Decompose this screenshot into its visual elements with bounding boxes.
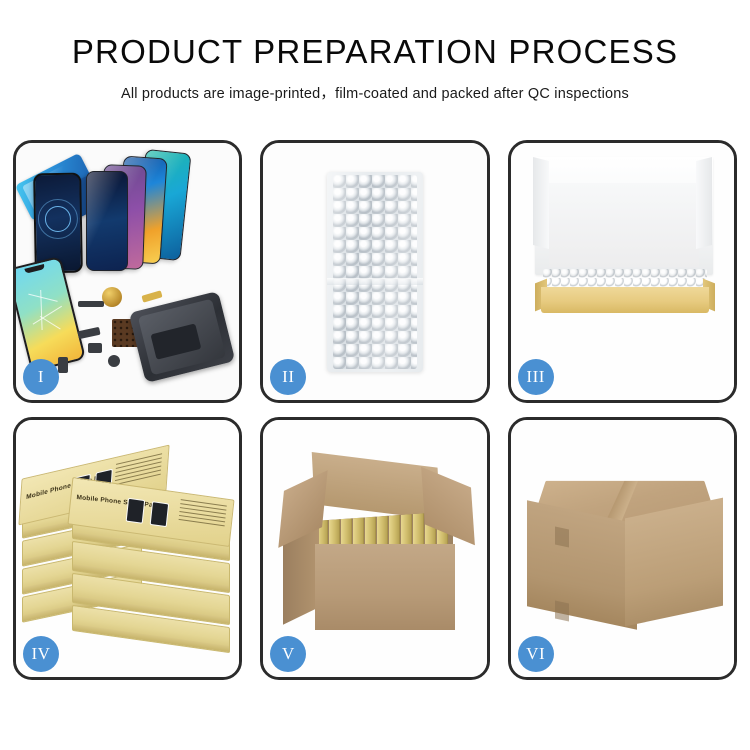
step-badge-1: I	[23, 359, 59, 395]
step-panel-products-and-spare-parts[interactable]: I	[13, 140, 242, 403]
kraft-tray-front	[541, 287, 709, 313]
steps-grid: I II	[13, 140, 737, 680]
step-badge-6: VI	[518, 636, 554, 672]
box-art-phone-icon	[126, 498, 146, 524]
carton-seam-top	[555, 527, 569, 548]
header: PRODUCT PREPARATION PROCESS All products…	[0, 0, 750, 103]
step-badge-3: III	[518, 359, 554, 395]
small-chip-part-icon	[88, 343, 102, 353]
box-spec-lines	[178, 499, 227, 535]
page-title: PRODUCT PREPARATION PROCESS	[0, 33, 750, 71]
box-art-phone-icon	[150, 501, 170, 527]
bubble-wrap-sheen	[327, 172, 423, 372]
page-subtitle: All products are image-printed，film-coat…	[0, 82, 750, 103]
open-carton-icon	[279, 456, 475, 632]
bubble-wrap-pouch-icon	[327, 172, 423, 372]
sealed-carton-icon	[525, 446, 725, 632]
carton-side-face	[625, 498, 723, 627]
gold-coil-part-icon	[102, 287, 122, 307]
phone-darkblue-icon	[86, 171, 128, 271]
phone-fan-group	[82, 149, 222, 279]
carton-back-flap	[312, 452, 441, 520]
step-panel-inner-box-packing[interactable]: III	[508, 140, 737, 403]
box-label-text: Mobile Phone Spare Parts	[76, 494, 162, 510]
step-badge-4: IV	[23, 636, 59, 672]
white-box-right-flap	[696, 157, 712, 249]
step-panel-stacked-retail-boxes[interactable]: Mobile Phone Spare Parts Mobile Phone Sp…	[13, 417, 242, 680]
carton-front-face	[315, 544, 455, 630]
step-panel-open-carton-filled[interactable]: V	[260, 417, 489, 680]
connector-part-icon	[78, 301, 104, 307]
sim-tray-part-icon	[58, 357, 68, 373]
step-panel-bubble-wrapped-item[interactable]: II	[260, 140, 489, 403]
product-preparation-infographic: PRODUCT PREPARATION PROCESS All products…	[0, 0, 750, 750]
retail-box-stack: Mobile Phone Spare Parts Mobile Phone Sp…	[20, 438, 236, 638]
kraft-tray-icon	[535, 269, 715, 313]
speaker-part-icon	[108, 355, 120, 367]
white-box-inner-face	[549, 183, 699, 267]
carton-seam-bottom	[555, 601, 569, 622]
carton-front-face	[527, 500, 637, 629]
white-box-left-flap	[533, 157, 549, 249]
step-panel-sealed-carton[interactable]: VI	[508, 417, 737, 680]
